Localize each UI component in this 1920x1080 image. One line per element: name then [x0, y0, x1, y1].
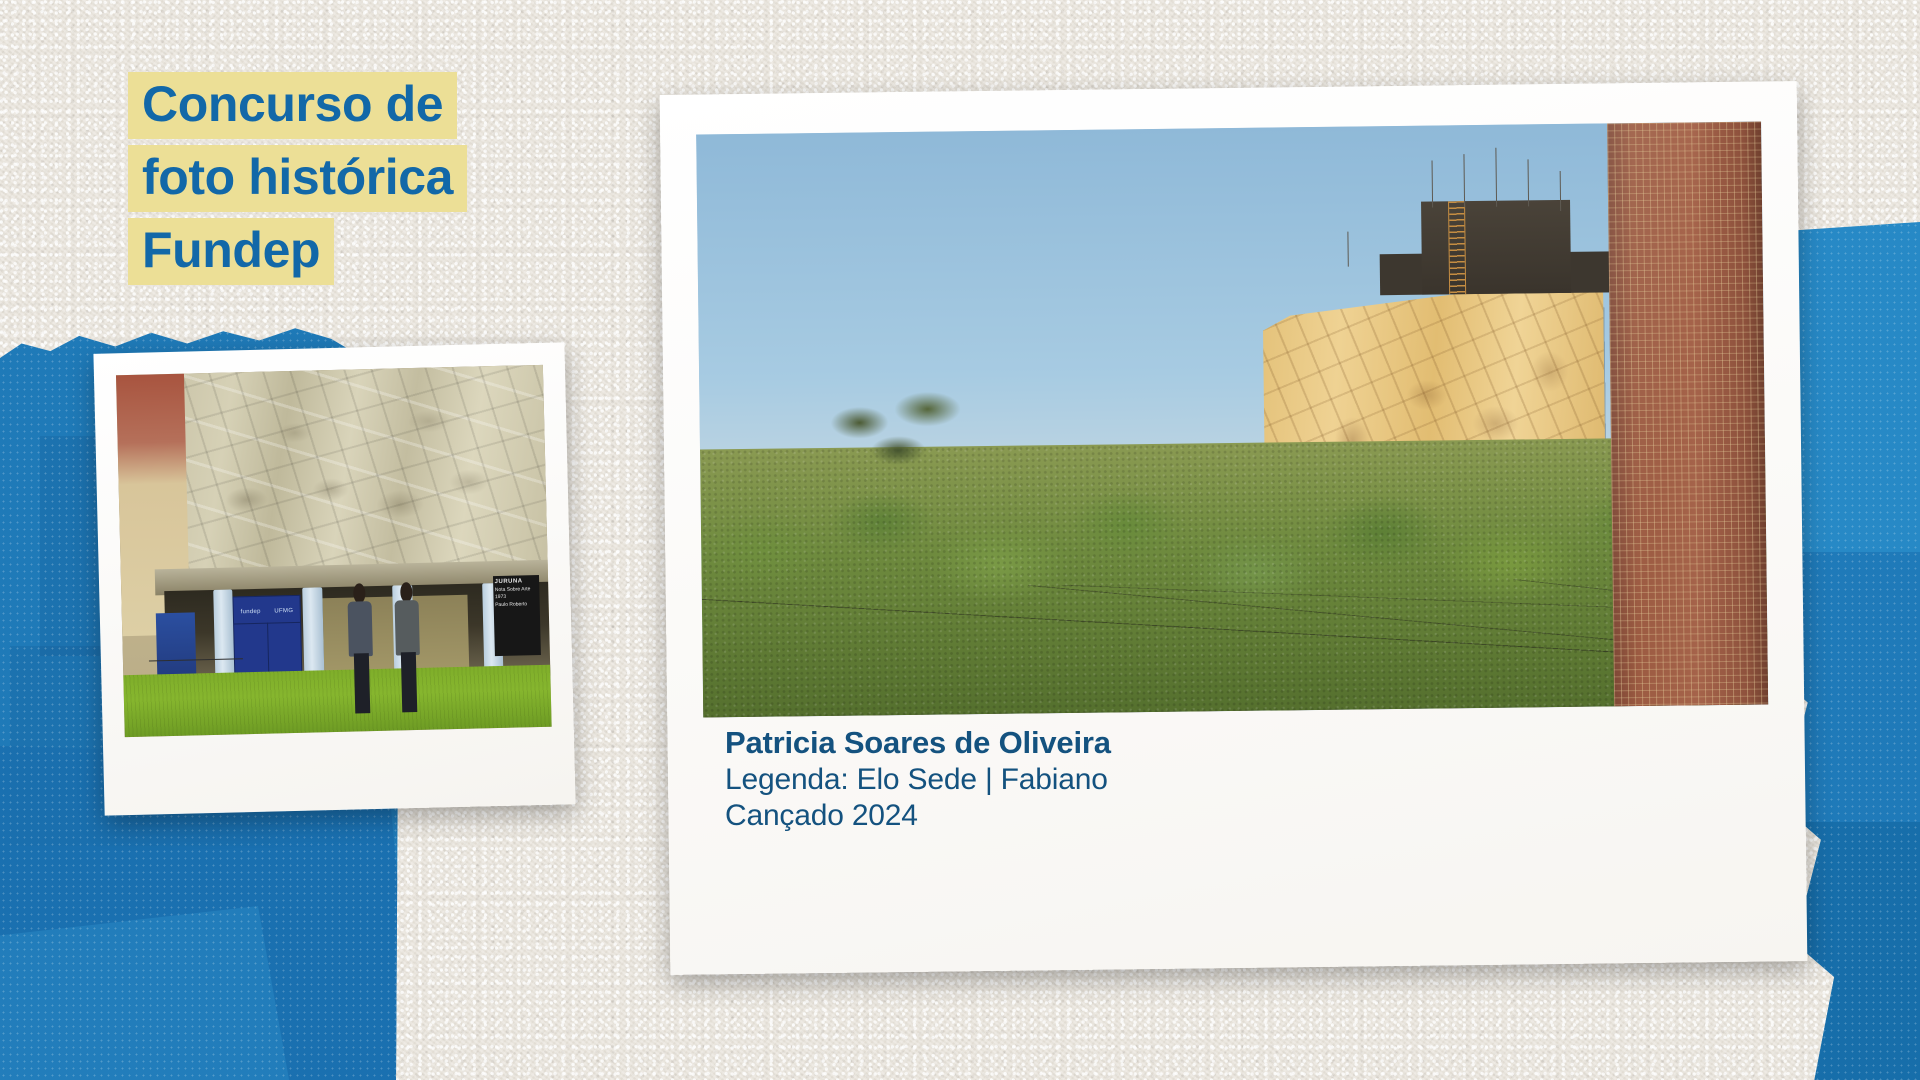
sm-person-2-legs	[400, 652, 417, 712]
photo-caption: Patricia Soares de Oliveira Legenda: Elo…	[725, 724, 1285, 834]
caption-legend-line-2: Cançado 2024	[725, 798, 1285, 834]
sm-relief-panel	[159, 365, 548, 581]
lg-roof-machine-room	[1421, 200, 1571, 295]
polaroid-small[interactable]: fundep UFMG JURUNA Nota Sobre Arte 1973 …	[93, 342, 575, 815]
photo-small-facade: fundep UFMG JURUNA Nota Sobre Arte 1973 …	[116, 365, 552, 737]
lg-roof-ladder	[1448, 201, 1466, 294]
sm-person-2-torso	[395, 600, 420, 655]
lg-ceramic-tile-column	[1607, 122, 1769, 707]
sm-person-1-legs	[353, 653, 370, 713]
lg-large-dark-tree	[795, 370, 1010, 501]
sm-lawn	[123, 665, 551, 737]
sm-person-1	[347, 583, 374, 714]
caption-author: Patricia Soares de Oliveira	[725, 724, 1285, 762]
title-line-2: foto histórica	[128, 145, 467, 212]
polaroid-large[interactable]	[660, 81, 1808, 975]
title-line-1: Concurso de	[128, 72, 457, 139]
title-row-2: foto histórica	[128, 145, 467, 218]
sm-exhibition-sign: JURUNA Nota Sobre Arte 1973 Paulo Robert…	[492, 575, 541, 656]
sm-blue-entrance-door: fundep UFMG	[232, 595, 302, 680]
ufmg-logo: UFMG	[274, 608, 293, 614]
title-row-1: Concurso de	[128, 72, 467, 145]
blue-collage-left-layer-3	[0, 906, 300, 1080]
sm-door-logos: fundep UFMG	[234, 601, 301, 622]
title-line-3: Fundep	[128, 218, 334, 285]
lg-power-lines	[702, 576, 1768, 682]
poster-canvas: fundep UFMG JURUNA Nota Sobre Arte 1973 …	[0, 0, 1920, 1080]
page-title: Concurso de foto histórica Fundep	[128, 72, 467, 291]
sm-sign-line-1: Nota Sobre Arte 1973	[495, 586, 538, 602]
sm-person-1-torso	[348, 601, 373, 656]
fundep-logo: fundep	[241, 609, 261, 615]
title-row-3: Fundep	[128, 218, 467, 291]
caption-legend-line-1: Legenda: Elo Sede | Fabiano	[725, 762, 1285, 798]
photo-large-elo-sede	[696, 122, 1768, 718]
sm-person-2	[394, 582, 421, 713]
sm-door-mullion	[267, 623, 269, 678]
sm-sign-line-2: Paulo Roberto	[495, 601, 538, 610]
